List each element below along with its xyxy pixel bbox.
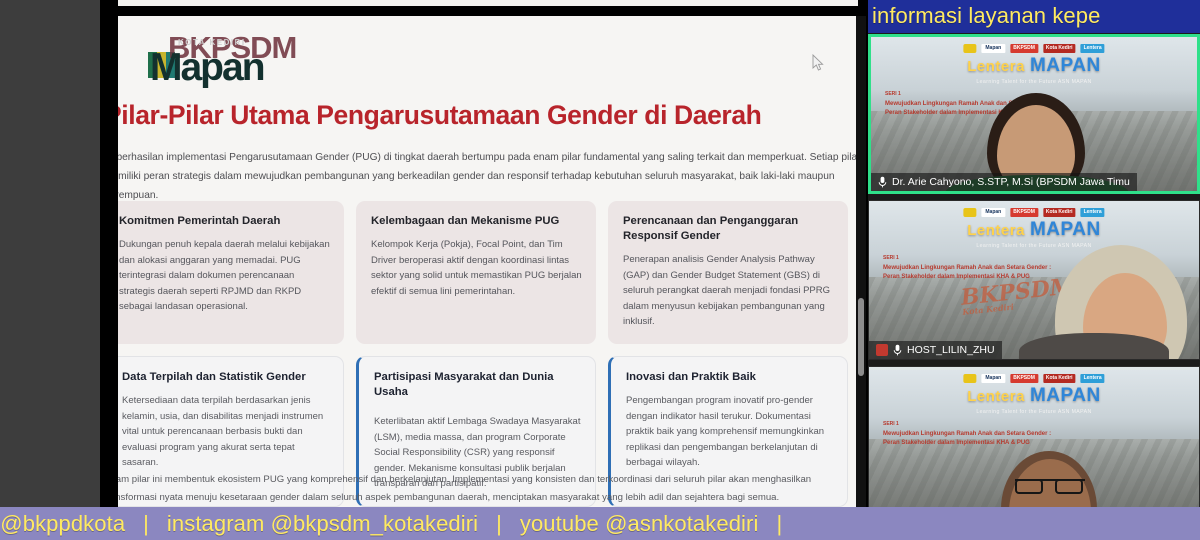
ticker-separator: | [125,511,167,537]
brand-chip-red1: BKPSDM [1010,374,1038,383]
ticker-overlay-segment: informasi layanan kepe [868,0,1200,33]
logo-front-text: Mapan [150,46,264,90]
participant-name: HOST_LILIN_ZHU [907,344,995,356]
slide-content: BKPSDM KOTA KEDIRI Mapan Pilar-Pilar Uta… [118,16,856,508]
brand-logo-row: Mapan BKPSDM Kota Kediri Lentera [963,208,1104,217]
pillar-card-2[interactable]: Kelembagaan dan Mekanisme PUG Kelompok K… [356,201,596,344]
pillar-card-body: Penerapan analisis Gender Analysis Pathw… [623,252,834,330]
glasses-lens-right [1055,479,1083,494]
bkpsdm-mapan-logo: BKPSDM KOTA KEDIRI Mapan [140,20,320,96]
pillar-row-top: Komitmen Pemerintah Daerah Dukungan penu… [118,201,864,344]
pillar-card-body: Pengembangan program inovatif pro-gender… [626,393,833,471]
brand-logo-row: Mapan BKPSDM Kota Kediri Lentera [963,44,1104,53]
participant-video-rail: Mapan BKPSDM Kota Kediri Lentera Lentera… [868,0,1200,540]
mapan-logo-chip: Mapan [981,44,1005,53]
brand-chip-red2: Kota Kediri [1043,208,1076,217]
brand-chip-blue: Lentera [1081,44,1105,53]
closing-paragraph: Enam pilar ini membentuk ekosistem PUG y… [118,471,866,507]
tile-title-mapan: MAPAN [1030,55,1101,76]
scrolling-ticker-bar: facebook @bkppdkota | instagram @bkpsdm_… [0,507,1200,540]
garuda-icon [963,44,976,53]
participant-tile-1[interactable]: Mapan BKPSDM Kota Kediri Lentera Lentera… [868,200,1200,360]
pillar-card-1[interactable]: Komitmen Pemerintah Daerah Dukungan penu… [118,201,344,344]
pillar-card-title: Data Terpilah dan Statistik Gender [122,370,329,385]
tile-tagline: Learning Talent for the Future ASN MAPAN [871,79,1197,85]
garuda-icon [963,374,976,383]
presentation-slide[interactable]: BKPSDM KOTA KEDIRI Mapan Pilar-Pilar Uta… [118,16,866,508]
pillar-card-body: Ketersediaan data terpilah berdasarkan j… [122,393,329,471]
shared-content-region: BKPSDM KOTA KEDIRI Mapan Pilar-Pilar Uta… [100,0,868,540]
pillar-card-grid: Komitmen Pemerintah Daerah Dukungan penu… [118,201,864,508]
participant-tile-2[interactable]: Mapan BKPSDM Kota Kediri Lentera Lentera… [868,366,1200,518]
pillar-card-title: Partisipasi Masyarakat dan Dunia Usaha [374,370,581,400]
muted-indicator-icon [876,344,888,356]
microphone-muted-icon [893,344,902,356]
tile-slide-heading: LenteraMAPAN Learning Talent for the Fut… [869,219,1199,249]
tile-seri-label: SERI 1 [883,255,899,261]
brand-chip-red1: BKPSDM [1010,208,1038,217]
participant-body [1019,333,1169,360]
tile-subtitle: Mewujudkan Lingkungan Ramah Anak dan Set… [883,430,1063,448]
glasses-lens-left [1015,479,1043,494]
pillar-card-body: Kelompok Kerja (Pokja), Focal Point, dan… [371,237,582,299]
brand-chip-red1: BKPSDM [1010,44,1038,53]
brand-chip-blue: Lentera [1081,208,1105,217]
pillar-card-3[interactable]: Perencanaan dan Penganggaran Responsif G… [608,201,848,344]
ticker-item-0: facebook @bkppdkota [0,511,125,537]
intro-paragraph: Keberhasilan implementasi Pengarusutamaa… [118,148,866,205]
tile-title-lentera: Lentera [967,222,1025,239]
mapan-logo-chip: Mapan [981,208,1005,217]
tile-title-lentera: Lentera [967,388,1025,405]
tile-title-lentera: Lentera [967,58,1025,75]
ticker-separator: | [758,511,800,537]
brand-chip-blue: Lentera [1081,374,1105,383]
ticker-item-2: youtube @asnkotakediri [520,511,759,537]
ticker-content: facebook @bkppdkota | instagram @bkpsdm_… [0,507,800,540]
tile-seri-label: SERI 1 [885,91,901,97]
left-gutter [0,0,100,540]
participant-name-bar: HOST_LILIN_ZHU [869,341,1002,359]
pillar-card-title: Perencanaan dan Penganggaran Responsif G… [623,214,834,244]
pillar-card-title: Kelembagaan dan Mekanisme PUG [371,214,582,229]
pillar-card-title: Inovasi dan Praktik Baik [626,370,833,385]
tile-slide-heading: LenteraMAPAN Learning Talent for the Fut… [869,385,1199,415]
ticker-overlay-text: informasi layanan kepe [872,3,1100,29]
tile-title-mapan: MAPAN [1030,219,1101,240]
pillar-card-title: Komitmen Pemerintah Daerah [119,214,330,229]
tile-tagline: Learning Talent for the Future ASN MAPAN [869,409,1199,415]
ticker-separator: | [478,511,520,537]
garuda-icon [963,208,976,217]
brand-chip-red2: Kota Kediri [1043,44,1076,53]
tile-tagline: Learning Talent for the Future ASN MAPAN [869,243,1199,249]
microphone-icon [878,176,887,188]
slide-scrollbar-thumb[interactable] [858,298,864,376]
tile-slide-heading: LenteraMAPAN Learning Talent for the Fut… [871,55,1197,85]
slide-scrollbar-track[interactable] [856,16,866,508]
ticker-item-1: instagram @bkpsdm_kotakediri [167,511,478,537]
tile-title-mapan: MAPAN [1030,385,1101,406]
tile-seri-label: SERI 1 [883,421,899,427]
participant-tile-0[interactable]: Mapan BKPSDM Kota Kediri Lentera Lentera… [868,34,1200,194]
meeting-screen: BKPSDM KOTA KEDIRI Mapan Pilar-Pilar Uta… [0,0,1200,540]
page-title: Pilar-Pilar Utama Pengarusutamaan Gender… [118,100,866,131]
brand-logo-row: Mapan BKPSDM Kota Kediri Lentera [963,374,1104,383]
slide-bottom-edge [118,0,858,6]
participant-name-bar: Dr. Arie Cahyono, S.STP, M.Si (BPSDM Jaw… [871,173,1137,191]
participant-name: Dr. Arie Cahyono, S.STP, M.Si (BPSDM Jaw… [892,176,1130,188]
mapan-logo-chip: Mapan [981,374,1005,383]
pillar-card-body: Dukungan penuh kepala daerah melalui keb… [119,237,330,315]
brand-chip-red2: Kota Kediri [1043,374,1076,383]
